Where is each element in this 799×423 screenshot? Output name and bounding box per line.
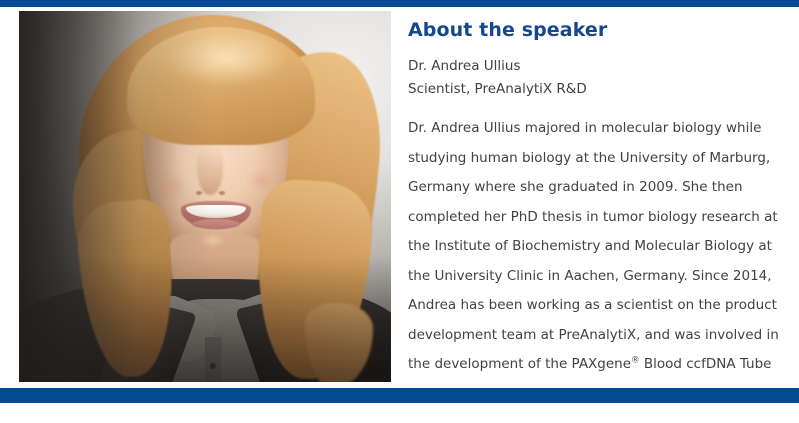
speaker-bio-slide: About the speaker Dr. Andrea Ullius Scie…	[0, 0, 799, 403]
bottom-accent-rule	[0, 388, 799, 403]
speaker-role: Scientist, PreAnalytiX R&D	[408, 78, 784, 101]
registered-trademark-symbol: ®	[631, 356, 640, 366]
speaker-portrait-image	[19, 11, 391, 382]
speaker-biography: Dr. Andrea Ullius majored in molecular b…	[408, 114, 780, 409]
photo-vignette	[19, 11, 391, 382]
speaker-name: Dr. Andrea Ullius	[408, 55, 784, 78]
speaker-meta: Dr. Andrea Ullius Scientist, PreAnalytiX…	[408, 55, 784, 101]
bio-text-part-1: Dr. Andrea Ullius majored in molecular b…	[408, 120, 779, 372]
speaker-photo	[19, 11, 391, 382]
top-accent-rule	[0, 0, 799, 7]
speaker-text-column: About the speaker Dr. Andrea Ullius Scie…	[408, 12, 784, 423]
page-title: About the speaker	[408, 18, 784, 42]
